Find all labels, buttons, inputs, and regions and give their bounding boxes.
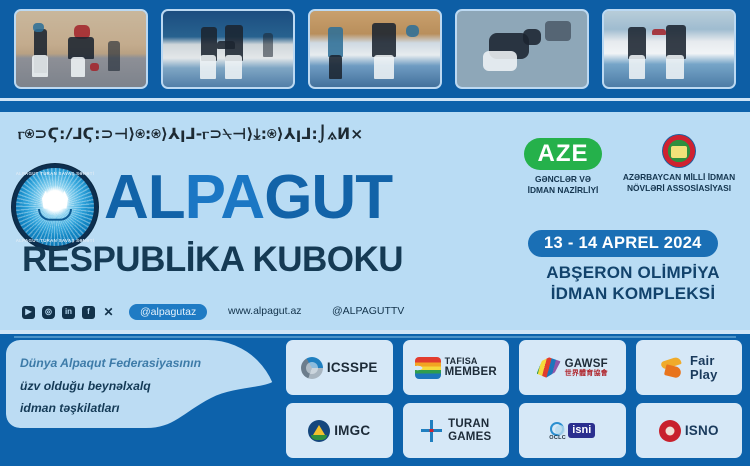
logo-gawsf-label: GAWSF xyxy=(565,358,608,370)
fighter-silhouette xyxy=(666,55,684,79)
headgear xyxy=(33,23,44,32)
association-caption-line1: AZƏRBAYCAN MİLLİ İDMAN xyxy=(612,172,746,183)
social-handle-pill[interactable]: @alpagutaz xyxy=(129,304,207,320)
ministry-caption-line1: GƏNCLƏR VƏ xyxy=(515,174,611,185)
poster-root: ⲅ⍟⊃Ϛ:Ⳇ⅃Ϛ:⊃⊣⟩⍟:⍟⟩⅄ꞁ⅃-ⲅ⊃⍀⊣⟩⤓:⍟⟩⅄ꞁ⅃:⌡⟑Ͷ× AL… xyxy=(0,0,750,466)
fighter-silhouette xyxy=(372,23,396,57)
association-caption-line2: NÖVLƏRİ ASSOSİASİYASI xyxy=(612,183,746,194)
referee-silhouette xyxy=(328,27,343,57)
venue-line1: ABŞERON OLİMPİYA xyxy=(520,262,746,283)
logo-imgc[interactable]: IMGC xyxy=(286,403,393,458)
fighter-silhouette xyxy=(225,55,242,79)
photo-strip xyxy=(0,0,750,98)
fair-play-figure-icon xyxy=(660,357,686,379)
background-person xyxy=(263,33,273,57)
strike-arm xyxy=(652,29,666,35)
logo-fair-play-label2: Play xyxy=(690,368,718,382)
logo-turan-games[interactable]: TURAN GAMES xyxy=(403,403,510,458)
partner-logo-grid: ICSSPE TAFISA MEMBER GAWSF 世界體育協會 Fair P… xyxy=(286,340,742,458)
footer-caption: Dünya Alpaqut Federasiyasının üzv olduğu… xyxy=(20,352,260,420)
logo-fair-play[interactable]: Fair Play xyxy=(636,340,743,395)
title-part-3: GUT xyxy=(264,163,392,232)
emblem-crest xyxy=(35,191,75,221)
title-part-2: PA xyxy=(185,163,265,232)
logo-icsspe[interactable]: ICSSPE xyxy=(286,340,393,395)
photo-5 xyxy=(602,9,736,89)
instagram-icon[interactable]: ◎ xyxy=(42,306,55,319)
title-part-1: AL xyxy=(104,163,185,232)
logo-oclc-isni[interactable]: OCLC isni xyxy=(519,403,626,458)
logo-turan-label2: GAMES xyxy=(448,431,491,443)
fighter-silhouette xyxy=(629,55,645,79)
photo-3 xyxy=(308,9,442,89)
fighter-silhouette xyxy=(374,55,394,79)
imgc-shield-icon xyxy=(308,420,330,442)
footer-inner-line xyxy=(14,336,736,338)
logo-fair-play-label: Fair xyxy=(690,354,715,368)
oclc-rings-icon: OCLC isni xyxy=(549,420,595,442)
grapple-arms xyxy=(217,41,235,49)
crescent-bowl-icon xyxy=(38,209,72,221)
page-title: ALPAGUT xyxy=(104,167,392,229)
logo-turan-label: TURAN xyxy=(448,418,489,430)
fighter-silhouette xyxy=(200,55,216,79)
youtube-icon[interactable]: ▶ xyxy=(22,306,35,319)
logo-tafisa-member[interactable]: TAFISA MEMBER xyxy=(403,340,510,395)
photo-1 xyxy=(14,9,148,89)
fighter-silhouette xyxy=(68,37,94,59)
logo-oclc-label: OCLC xyxy=(549,435,566,441)
venue-line2: İDMAN KOMPLEKSİ xyxy=(520,283,746,304)
logo-gawsf[interactable]: GAWSF 世界體育協會 xyxy=(519,340,626,395)
ministry-caption: GƏNCLƏR VƏ İDMAN NAZİRLİYİ xyxy=(515,174,611,197)
logo-tafisa-label: TAFISA xyxy=(445,357,478,366)
logo-isno[interactable]: ISNO xyxy=(636,403,743,458)
strip-divider-blue xyxy=(0,101,750,112)
logo-isno-label: ISNO xyxy=(685,424,719,438)
footer-caption-line2: üzv olduğu beynəlxalq xyxy=(20,375,260,398)
fighter-silhouette xyxy=(666,25,686,59)
linkedin-icon[interactable]: in xyxy=(62,306,75,319)
gawsf-ribbon-icon xyxy=(537,357,561,379)
grappling-pair xyxy=(483,51,517,71)
logo-gawsf-label2: 世界體育協會 xyxy=(565,370,608,377)
logo-tafisa-labels: TAFISA MEMBER xyxy=(445,357,497,379)
aze-badge: AZE xyxy=(524,138,602,170)
photo-4 xyxy=(455,9,589,89)
facebook-icon[interactable]: f xyxy=(82,306,95,319)
wolf-head-icon xyxy=(42,191,68,209)
main-body: ⲅ⍟⊃Ϛ:Ⳇ⅃Ϛ:⊃⊣⟩⍟:⍟⟩⅄ꞁ⅃-ⲅ⊃⍀⊣⟩⤓:⍟⟩⅄ꞁ⅃:⌡⟑Ͷ× AL… xyxy=(0,112,750,330)
fighter-silhouette xyxy=(32,55,48,77)
association-block: AZƏRBAYCAN MİLLİ İDMAN NÖVLƏRİ ASSOSİASİ… xyxy=(612,134,746,195)
background-banner xyxy=(545,21,571,41)
logo-isni-label: isni xyxy=(568,423,595,438)
photo-2 xyxy=(161,9,295,89)
event-venue: ABŞERON OLİMPİYA İDMAN KOMPLEKSİ xyxy=(520,262,746,305)
isno-rose-icon xyxy=(659,420,681,442)
logo-tafisa-label2: MEMBER xyxy=(445,366,497,378)
logo-turan-labels: TURAN GAMES xyxy=(448,418,491,442)
logo-fair-play-labels: Fair Play xyxy=(690,354,718,381)
icsspe-globe-icon xyxy=(301,357,323,379)
fighter-silhouette xyxy=(71,57,85,77)
tv-handle[interactable]: @ALPAGUTTV xyxy=(332,305,404,317)
turan-games-compass-icon xyxy=(420,420,444,442)
association-caption: AZƏRBAYCAN MİLLİ İDMAN NÖVLƏRİ ASSOSİASİ… xyxy=(612,172,746,195)
footer-caption-line1: Dünya Alpaqut Federasiyasının xyxy=(20,352,260,375)
logo-imgc-label: IMGC xyxy=(334,424,370,438)
alpagut-turan-emblem: ALPAGUT TURAN SAVAŞ SƏNƏTİ ALPAGUT TURAN… xyxy=(12,164,98,250)
social-row: ▶ ◎ in f ✕ @alpagutaz xyxy=(22,304,207,320)
headgear xyxy=(406,25,419,37)
footer-caption-line3: idman təşkilatları xyxy=(20,397,260,420)
ministry-block: AZE GƏNCLƏR VƏ İDMAN NAZİRLİYİ xyxy=(515,138,611,197)
page-subtitle: RESPUBLİKA KUBOKU xyxy=(22,242,403,277)
logo-gawsf-labels: GAWSF 世界體育協會 xyxy=(565,358,608,377)
ministry-caption-line2: İDMAN NAZİRLİYİ xyxy=(515,185,611,196)
referee-legs xyxy=(329,55,342,79)
logo-icsspe-label: ICSSPE xyxy=(327,361,378,375)
fighter-silhouette xyxy=(523,29,541,45)
tafisa-waves-icon xyxy=(415,357,441,379)
website-url[interactable]: www.alpagut.az xyxy=(228,305,302,317)
azerbaijan-national-sports-emblem xyxy=(662,134,696,168)
background-person xyxy=(108,41,120,71)
emblem-text-top: ALPAGUT TURAN SAVAŞ SƏNƏTİ xyxy=(12,171,98,176)
x-twitter-icon[interactable]: ✕ xyxy=(102,306,115,319)
oclc-mark: OCLC xyxy=(549,421,566,441)
old-turkic-script-line: ⲅ⍟⊃Ϛ:Ⳇ⅃Ϛ:⊃⊣⟩⍟:⍟⟩⅄ꞁ⅃-ⲅ⊃⍀⊣⟩⤓:⍟⟩⅄ꞁ⅃:⌡⟑Ͷ× xyxy=(18,122,498,144)
event-date-pill: 13 - 14 APREL 2024 xyxy=(528,230,718,257)
foot-pad xyxy=(90,63,99,71)
